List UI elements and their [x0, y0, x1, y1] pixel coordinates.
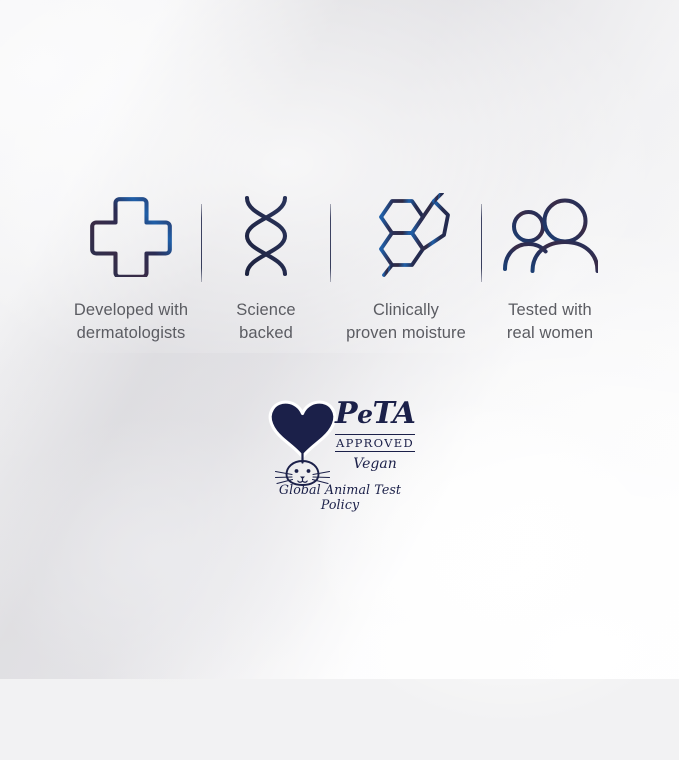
feature-badge-label: Tested with real women: [507, 299, 593, 345]
product-feature-graphic: Developed with dermatologists: [0, 0, 679, 679]
feature-badge-label: Clinically proven moisture: [346, 299, 466, 345]
feature-badge-science-backed: Science backed: [202, 190, 330, 345]
feature-badge-row: Developed with dermatologists: [0, 190, 679, 345]
peta-wordmark-p: P: [335, 396, 357, 431]
peta-approved-rule: APPROVED: [335, 434, 415, 452]
peta-policy-label: Global Animal Test Policy: [265, 482, 415, 512]
feature-badge-tested-with-real-women: Tested with real women: [482, 190, 618, 345]
medical-cross-icon: [86, 190, 176, 282]
peta-approved-vegan-logo: PeTA APPROVED Vegan Global Animal Test P…: [265, 396, 415, 508]
peta-wordmark-ta: TA: [372, 396, 415, 431]
two-people-icon: [502, 190, 598, 282]
dna-helix-icon: [229, 190, 303, 282]
peta-wordmark: PeTA: [335, 398, 415, 431]
molecule-hexagons-icon: [359, 190, 453, 282]
peta-bunny-heart-icon: [265, 396, 340, 486]
peta-wordmark-e: e: [357, 400, 372, 429]
feature-badge-label: Science backed: [236, 299, 295, 345]
feature-badge-label: Developed with dermatologists: [74, 299, 188, 345]
feature-badge-developed-with-dermatologists: Developed with dermatologists: [61, 190, 201, 345]
peta-wordmark-block: PeTA APPROVED Vegan: [335, 398, 415, 472]
feature-badge-clinically-proven-moisture: Clinically proven moisture: [331, 190, 481, 345]
peta-vegan-label: Vegan: [335, 456, 415, 472]
peta-approved-label: APPROVED: [335, 436, 415, 450]
